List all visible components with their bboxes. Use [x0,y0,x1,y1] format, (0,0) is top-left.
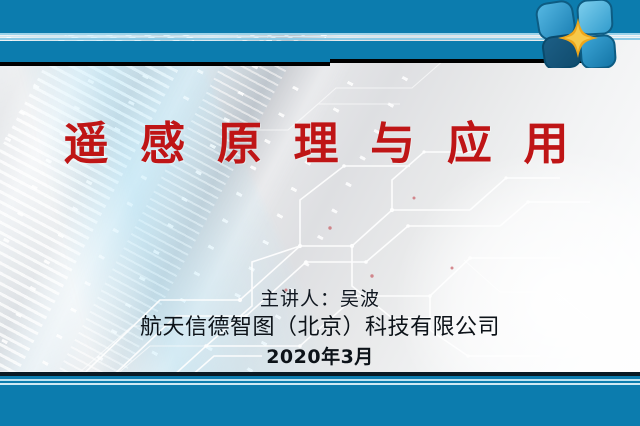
four-squares-star-logo [526,0,632,68]
footer-band [0,385,640,426]
header-shadow-line [0,62,330,66]
presenter-block: 主讲人：吴波 航天信德智图（北京）科技有限公司 2020年3月 [0,286,640,370]
presentation-slide: 遥 感 原 理 与 应 用 主讲人：吴波 航天信德智图（北京）科技有限公司 20… [0,0,640,426]
presenter-name: 主讲人：吴波 [0,286,640,312]
presentation-date: 2020年3月 [0,344,640,370]
page-title: 遥 感 原 理 与 应 用 [0,116,640,172]
company-name: 航天信德智图（北京）科技有限公司 [0,313,640,343]
